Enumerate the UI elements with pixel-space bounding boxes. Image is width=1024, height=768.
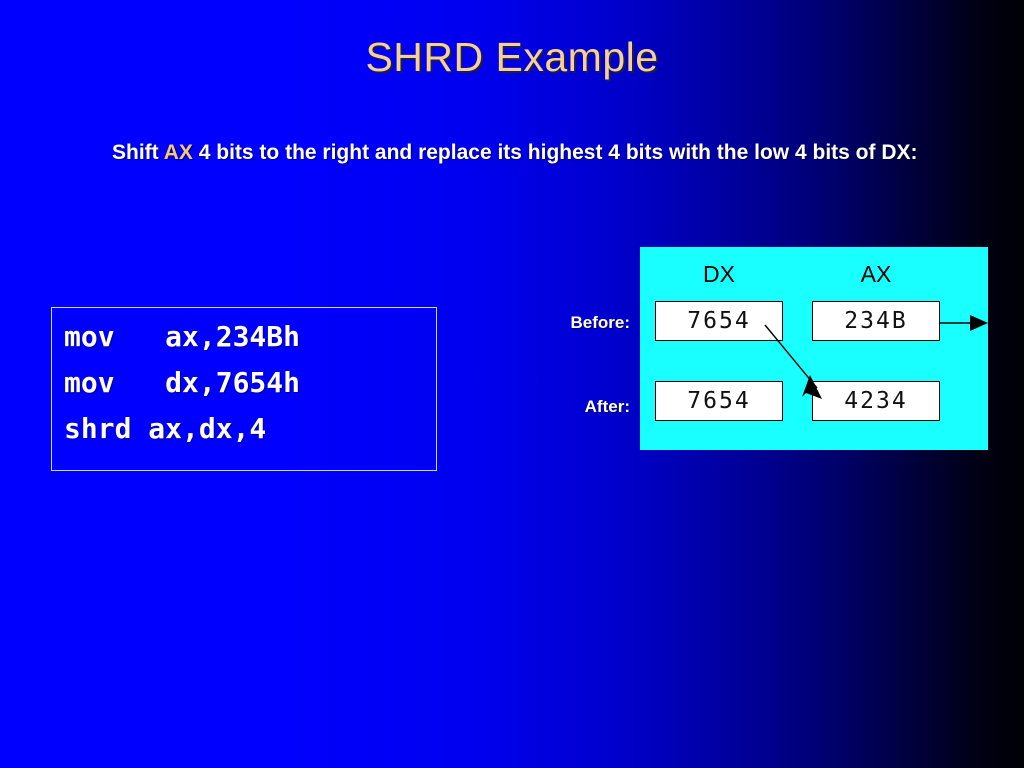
slide: SHRD Example Shift AX 4 bits to the righ…	[0, 0, 1024, 768]
dx-low-nibble-to-ax-high-arrow-icon	[765, 325, 822, 399]
body-text-part-2: 4 bits to the right and replace its high…	[193, 141, 918, 164]
code-line: mov ax,234Bh	[64, 320, 300, 353]
code-line: shrd ax,dx,4	[64, 412, 266, 445]
diagram-arrows	[640, 247, 988, 450]
body-text-highlight-ax: AX	[164, 141, 193, 164]
body-text-part-1: Shift	[112, 141, 164, 164]
code-box: mov ax,234Bh mov dx,7654h shrd ax,dx,4	[51, 307, 437, 471]
body-text: Shift AX 4 bits to the right and replace…	[112, 138, 922, 168]
shift-out-arrow-icon	[940, 315, 988, 331]
after-row-label: After:	[520, 397, 630, 417]
before-row-label: Before:	[520, 313, 630, 333]
register-diagram-panel: DX AX 7654 234B 7654 4234	[640, 247, 988, 450]
code-line: mov dx,7654h	[64, 366, 300, 399]
page-title: SHRD Example	[0, 34, 1024, 81]
